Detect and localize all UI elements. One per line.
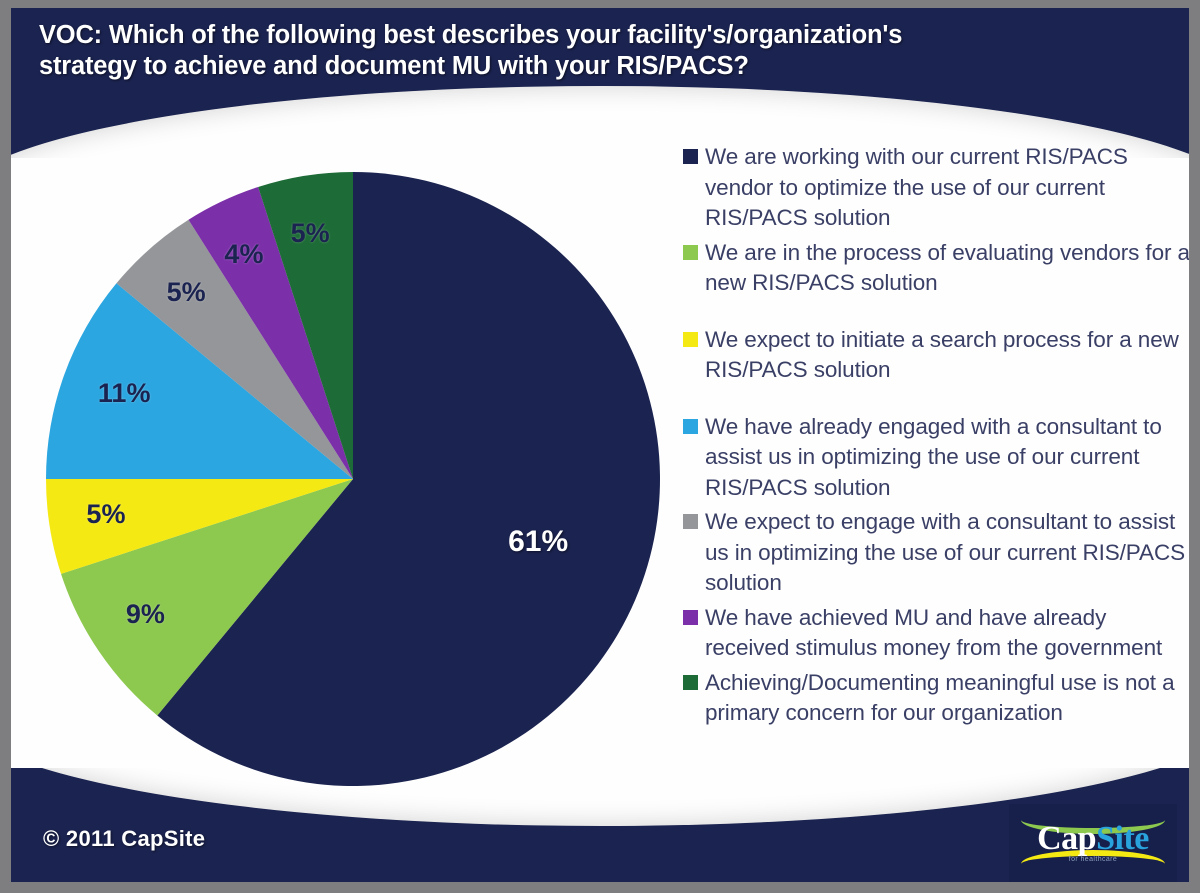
legend-item-label: We expect to engage with a consultant to… — [705, 507, 1189, 599]
chart-legend: We are working with our current RIS/PACS… — [683, 142, 1189, 733]
copyright-text: © 2011 CapSite — [43, 826, 205, 852]
slide-canvas: VOC: Which of the following best describ… — [0, 0, 1200, 893]
legend-swatch-icon — [683, 149, 698, 164]
legend-item[interactable]: We are in the process of evaluating vend… — [683, 238, 1189, 299]
legend-swatch-icon — [683, 514, 698, 529]
legend-swatch-icon — [683, 332, 698, 347]
legend-item[interactable]: We expect to initiate a search process f… — [683, 325, 1189, 386]
legend-swatch-icon — [683, 419, 698, 434]
legend-item-label: We have achieved MU and have already rec… — [705, 603, 1189, 664]
pie-chart-area: 61%9%5%11%5%4%5% — [11, 128, 671, 828]
slide-frame: VOC: Which of the following best describ… — [11, 8, 1189, 882]
legend-swatch-icon — [683, 610, 698, 625]
slide-header: VOC: Which of the following best describ… — [11, 8, 1189, 82]
title-line-2: strategy to achieve and document MU with… — [39, 51, 1189, 82]
pie-svg — [42, 168, 662, 788]
logo-word-site: Site — [1096, 820, 1149, 857]
capsite-logo: CapSite for healthcare — [1009, 804, 1177, 882]
logo-wordmark: CapSite — [1009, 820, 1177, 858]
legend-item[interactable]: Achieving/Documenting meaningful use is … — [683, 668, 1189, 729]
legend-item-label: We have already engaged with a consultan… — [705, 412, 1189, 504]
legend-item-label: Achieving/Documenting meaningful use is … — [705, 668, 1189, 729]
legend-item-label: We expect to initiate a search process f… — [705, 325, 1189, 386]
legend-swatch-icon — [683, 245, 698, 260]
logo-word-cap: Cap — [1037, 820, 1096, 857]
pie-chart — [42, 168, 662, 793]
legend-swatch-icon — [683, 675, 698, 690]
logo-tagline: for healthcare — [1009, 856, 1177, 863]
legend-item[interactable]: We have achieved MU and have already rec… — [683, 603, 1189, 664]
legend-item[interactable]: We have already engaged with a consultan… — [683, 412, 1189, 504]
legend-item[interactable]: We expect to engage with a consultant to… — [683, 507, 1189, 599]
legend-item[interactable]: We are working with our current RIS/PACS… — [683, 142, 1189, 234]
legend-item-label: We are working with our current RIS/PACS… — [705, 142, 1189, 234]
title-line-1: VOC: Which of the following best describ… — [39, 20, 1189, 51]
legend-item-label: We are in the process of evaluating vend… — [705, 238, 1189, 299]
